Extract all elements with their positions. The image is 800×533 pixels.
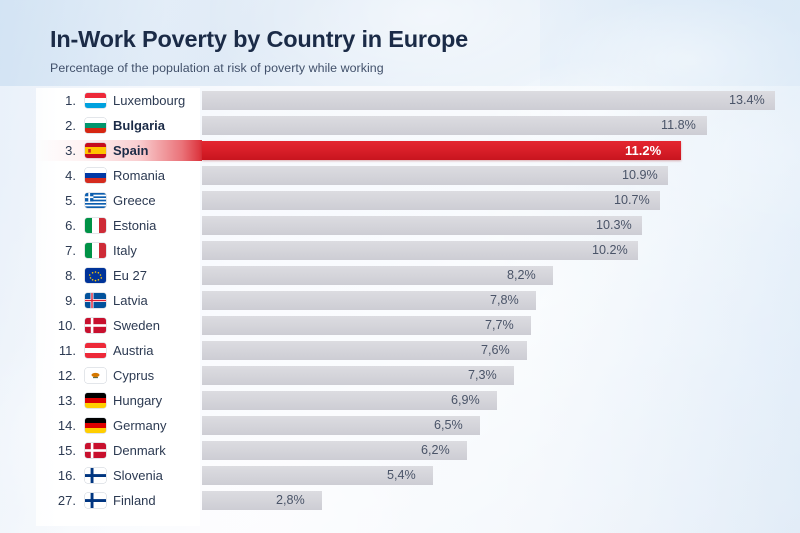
bar-track: 7,6% xyxy=(202,341,800,360)
country-label: Denmark xyxy=(113,443,166,458)
bar-track: 6,9% xyxy=(202,391,800,410)
bar[interactable] xyxy=(202,216,642,235)
bar-value-label: 7,8% xyxy=(490,291,519,310)
rank-number: 14. xyxy=(46,418,76,433)
country-label: Greece xyxy=(113,193,156,208)
rank-number: 5. xyxy=(46,193,76,208)
bar-track: 5,4% xyxy=(202,466,800,485)
country-label: Latvia xyxy=(113,293,148,308)
rank-number: 27. xyxy=(46,493,76,508)
bar-value-label: 7,7% xyxy=(485,316,514,335)
rank-number: 11. xyxy=(46,343,76,358)
table-row[interactable]: 27.Finland2,8% xyxy=(0,488,800,513)
country-label: Estonia xyxy=(113,218,156,233)
table-row[interactable]: 2.Bulgaria11.8% xyxy=(0,113,800,138)
bar-track: 10.7% xyxy=(202,191,800,210)
bar-track: 7,7% xyxy=(202,316,800,335)
bar-track: 8,2% xyxy=(202,266,800,285)
bar-value-label: 6,5% xyxy=(434,416,463,435)
chart-header: In-Work Poverty by Country in Europe Per… xyxy=(50,26,750,75)
infographic-canvas: In-Work Poverty by Country in Europe Per… xyxy=(0,0,800,533)
flag-finland-icon xyxy=(85,468,106,483)
bar[interactable] xyxy=(202,241,638,260)
table-row[interactable]: 5.Greece10.7% xyxy=(0,188,800,213)
bar-track: 6,5% xyxy=(202,416,800,435)
country-label: Luxembourg xyxy=(113,93,185,108)
flag-bulgaria-icon xyxy=(85,118,106,133)
rank-number: 6. xyxy=(46,218,76,233)
flag-iceland-icon xyxy=(85,293,106,308)
flag-greece-icon xyxy=(85,193,106,208)
rank-number: 7. xyxy=(46,243,76,258)
bar-value-label: 6,9% xyxy=(451,391,480,410)
country-label: Hungary xyxy=(113,393,162,408)
bar-row-list: 1.Luxembourg13.4%2.Bulgaria11.8%3.Spain1… xyxy=(0,88,800,513)
rank-number: 8. xyxy=(46,268,76,283)
country-label: Italy xyxy=(113,243,137,258)
country-label: Romania xyxy=(113,168,165,183)
bar-chart: 1.Luxembourg13.4%2.Bulgaria11.8%3.Spain1… xyxy=(0,88,800,528)
country-label: Bulgaria xyxy=(113,118,165,133)
rank-number: 3. xyxy=(46,143,76,158)
bar-value-label: 10.3% xyxy=(596,216,632,235)
bar[interactable] xyxy=(202,191,660,210)
country-label: Germany xyxy=(113,418,166,433)
bar-track: 6,2% xyxy=(202,441,800,460)
bar[interactable] xyxy=(202,166,668,185)
page-subtitle: Percentage of the population at risk of … xyxy=(50,61,750,75)
table-row[interactable]: 4.Romania10.9% xyxy=(0,163,800,188)
bar[interactable] xyxy=(202,316,531,335)
country-label: Spain xyxy=(113,143,148,158)
bar-value-label: 11.2% xyxy=(625,141,661,160)
bar[interactable] xyxy=(202,291,536,310)
rank-number: 16. xyxy=(46,468,76,483)
country-label: Finland xyxy=(113,493,156,508)
rank-number: 15. xyxy=(46,443,76,458)
flag-denmark-icon xyxy=(85,318,106,333)
flag-european-union-icon xyxy=(85,268,106,283)
table-row[interactable]: 11.Austria7,6% xyxy=(0,338,800,363)
rank-number: 9. xyxy=(46,293,76,308)
bar-value-label: 10.9% xyxy=(622,166,658,185)
table-row[interactable]: 14.Germany6,5% xyxy=(0,413,800,438)
table-row[interactable]: 1.Luxembourg13.4% xyxy=(0,88,800,113)
bar-value-label: 7,3% xyxy=(468,366,497,385)
bar[interactable] xyxy=(202,266,553,285)
flag-italy-icon xyxy=(85,243,106,258)
table-row[interactable]: 12.Cyprus7,3% xyxy=(0,363,800,388)
country-label: Austria xyxy=(113,343,153,358)
table-row[interactable]: 13.Hungary6,9% xyxy=(0,388,800,413)
rank-number: 1. xyxy=(46,93,76,108)
bar-value-label: 10.2% xyxy=(592,241,628,260)
bar-track: 13.4% xyxy=(202,91,800,110)
flag-italy-icon xyxy=(85,218,106,233)
bar-track: 11.8% xyxy=(202,116,800,135)
table-row[interactable]: 7.Italy10.2% xyxy=(0,238,800,263)
flag-austria-icon xyxy=(85,343,106,358)
flag-denmark-icon xyxy=(85,443,106,458)
flag-finland-icon xyxy=(85,493,106,508)
bar-value-label: 10.7% xyxy=(614,191,650,210)
flag-russia-icon xyxy=(85,168,106,183)
country-label: Cyprus xyxy=(113,368,154,383)
table-row[interactable]: 10.Sweden7,7% xyxy=(0,313,800,338)
flag-luxembourg-icon xyxy=(85,93,106,108)
flag-germany-icon xyxy=(85,418,106,433)
rank-number: 10. xyxy=(46,318,76,333)
bar-value-label: 8,2% xyxy=(507,266,536,285)
flag-germany-icon xyxy=(85,393,106,408)
country-label: Slovenia xyxy=(113,468,163,483)
rank-number: 2. xyxy=(46,118,76,133)
rank-number: 13. xyxy=(46,393,76,408)
bar-value-label: 2,8% xyxy=(276,491,305,510)
bar[interactable] xyxy=(202,341,527,360)
bar-track: 11.2% xyxy=(202,141,800,160)
table-row[interactable]: 16.Slovenia5,4% xyxy=(0,463,800,488)
bar-value-label: 5,4% xyxy=(387,466,416,485)
bar-value-label: 13.4% xyxy=(729,91,765,110)
bar-track: 7,3% xyxy=(202,366,800,385)
country-label: Sweden xyxy=(113,318,160,333)
bar-track: 2,8% xyxy=(202,491,800,510)
bar-track: 7,8% xyxy=(202,291,800,310)
country-label: Eu 27 xyxy=(113,268,147,283)
flag-cyprus-icon xyxy=(85,368,106,383)
rank-number: 4. xyxy=(46,168,76,183)
bar[interactable] xyxy=(202,116,707,135)
bar-value-label: 11.8% xyxy=(661,116,696,135)
table-row[interactable]: 15.Denmark6,2% xyxy=(0,438,800,463)
page-title: In-Work Poverty by Country in Europe xyxy=(50,26,750,53)
bar-track: 10.2% xyxy=(202,241,800,260)
table-row[interactable]: 9.Latvia7,8% xyxy=(0,288,800,313)
flag-spain-icon xyxy=(85,143,106,158)
bar-value-label: 6,2% xyxy=(421,441,450,460)
table-row[interactable]: 8.Eu 278,2% xyxy=(0,263,800,288)
bar[interactable] xyxy=(202,91,775,110)
bar-value-label: 7,6% xyxy=(481,341,510,360)
table-row[interactable]: 3.Spain11.2% xyxy=(0,138,800,163)
table-row[interactable]: 6.Estonia10.3% xyxy=(0,213,800,238)
rank-number: 12. xyxy=(46,368,76,383)
bar-track: 10.9% xyxy=(202,166,800,185)
bar-track: 10.3% xyxy=(202,216,800,235)
bar[interactable] xyxy=(202,141,681,160)
